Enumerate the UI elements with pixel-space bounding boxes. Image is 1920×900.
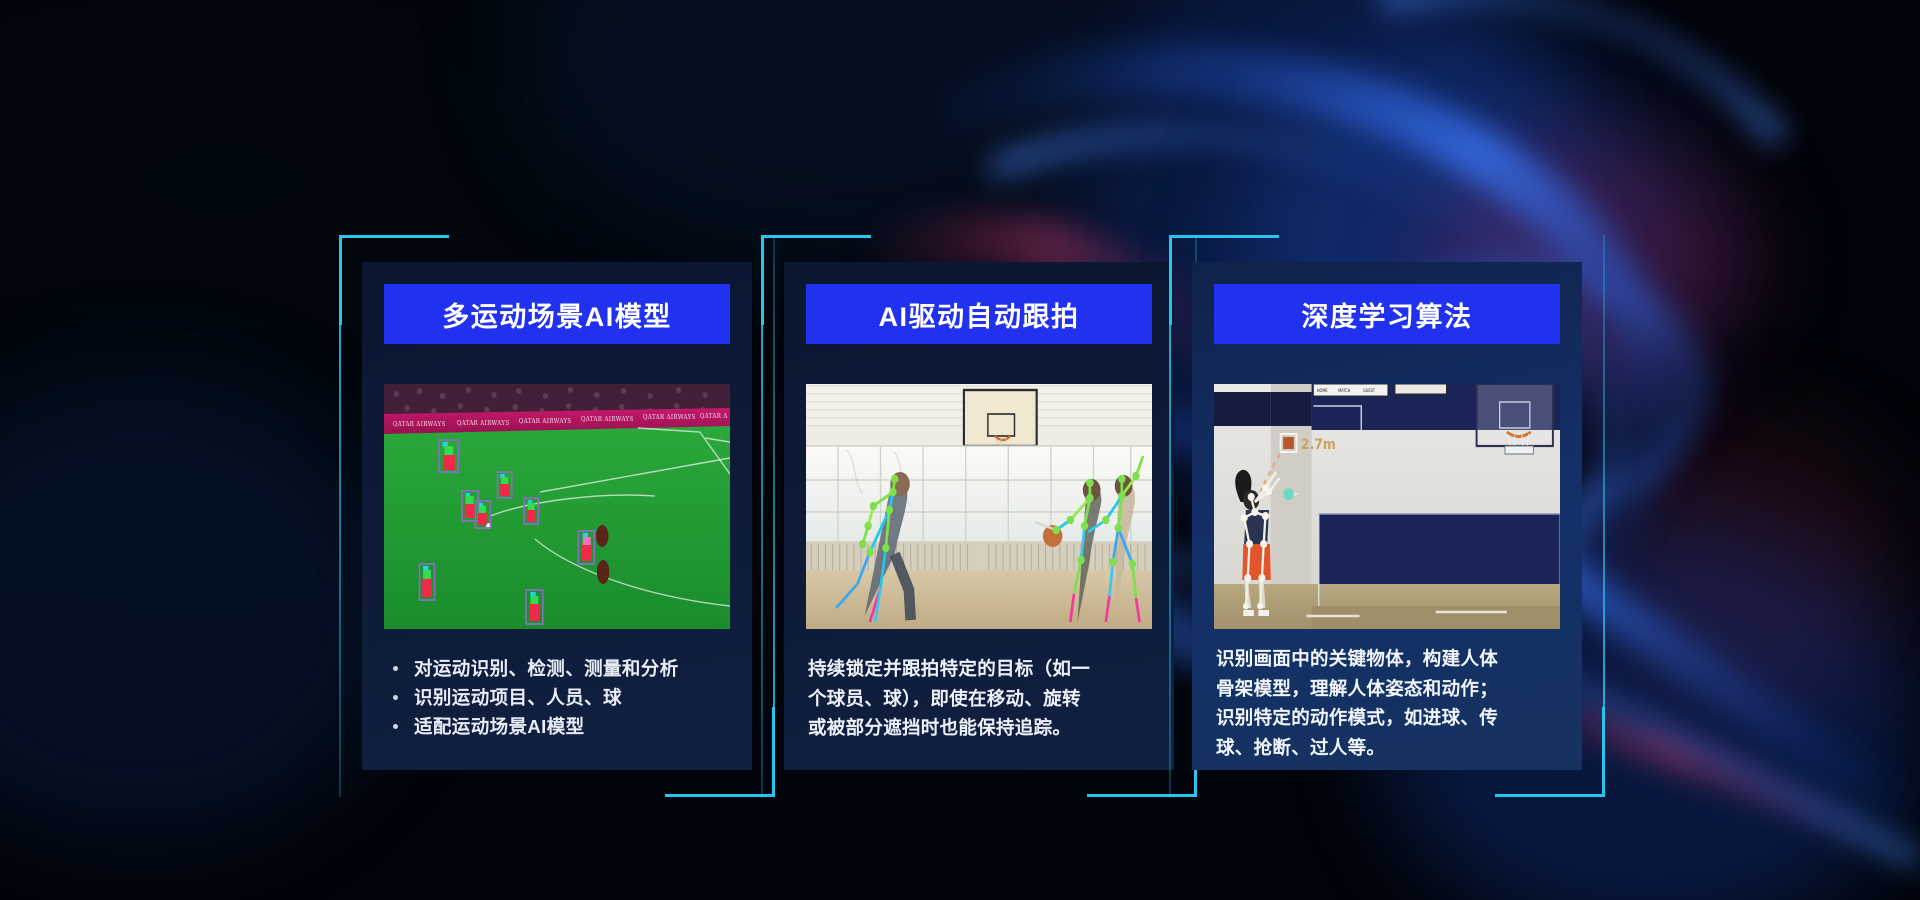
description-line: 持续锁定并跟拍特定的目标（如一 (808, 654, 1154, 684)
description-line: 识别特定的动作模式，如进球、传 (1216, 703, 1562, 733)
side-rail-left (1169, 235, 1171, 797)
description-line: 个球员、球），即使在移动、旋转 (808, 684, 1154, 714)
description-line: 或被部分遮挡时也能保持追踪。 (808, 713, 1154, 743)
list-item: 适配运动场景AI模型 (386, 712, 732, 741)
distance-annotation: 2.7m (1301, 437, 1336, 453)
card-header: 深度学习算法 (1214, 284, 1560, 344)
card-title: AI驱动自动跟拍 (879, 295, 1080, 334)
feature-cards-stage: 多运动场景AI模型 (0, 0, 1920, 900)
soccer-detection-thumbnail[interactable]: QATAR AIRWAYS QATAR AIRWAYS QATAR AIRWAY… (384, 384, 730, 629)
feature-description: 持续锁定并跟拍特定的目标（如一 个球员、球），即使在移动、旋转 或被部分遮挡时也… (808, 654, 1154, 743)
svg-text:QATAR A: QATAR A (700, 414, 728, 420)
ad-board-text: QATAR AIRWAYS (393, 422, 446, 428)
side-rail-left (339, 235, 341, 797)
svg-text:QATAR AIRWAYS: QATAR AIRWAYS (643, 415, 696, 421)
feature-description: 识别画面中的关键物体，构建人体 骨架模型，理解人体姿态和动作； 识别特定的动作模… (1216, 644, 1562, 762)
card-body: 多运动场景AI模型 (362, 262, 752, 770)
side-rail-right (773, 235, 775, 797)
svg-text:QATAR AIRWAYS: QATAR AIRWAYS (457, 421, 510, 427)
card-text: 持续锁定并跟拍特定的目标（如一 个球员、球），即使在移动、旋转 或被部分遮挡时也… (808, 654, 1154, 743)
card-body: AI驱动自动跟拍 (784, 262, 1174, 770)
basketball-pose-tracking-thumbnail[interactable] (806, 384, 1152, 629)
list-item: 识别运动项目、人员、球 (386, 683, 732, 712)
feature-bullet-list: 对运动识别、检测、测量和分析 识别运动项目、人员、球 适配运动场景AI模型 (386, 654, 732, 741)
card-header: 多运动场景AI模型 (384, 284, 730, 344)
card-header: AI驱动自动跟拍 (806, 284, 1152, 344)
description-line: 骨架模型，理解人体姿态和动作； (1216, 674, 1562, 704)
description-line: 识别画面中的关键物体，构建人体 (1216, 644, 1562, 674)
card-text: 对运动识别、检测、测量和分析 识别运动项目、人员、球 适配运动场景AI模型 (386, 654, 732, 741)
side-rail-left (761, 235, 763, 797)
description-line: 球、抢断、过人等。 (1216, 733, 1562, 763)
svg-text:QATAR AIRWAYS: QATAR AIRWAYS (581, 417, 634, 423)
list-item: 对运动识别、检测、测量和分析 (386, 654, 732, 683)
svg-text:GUEST: GUEST (1363, 388, 1376, 393)
card-text: 识别画面中的关键物体，构建人体 骨架模型，理解人体姿态和动作； 识别特定的动作模… (1216, 644, 1562, 762)
feature-card-ai-auto-tracking[interactable]: AI驱动自动跟拍 (784, 262, 1174, 770)
card-title: 深度学习算法 (1302, 295, 1473, 334)
svg-text:QATAR AIRWAYS: QATAR AIRWAYS (519, 419, 572, 425)
side-rail-right (1603, 235, 1605, 797)
card-title: 多运动场景AI模型 (442, 295, 672, 334)
svg-text:MATCH: MATCH (1338, 388, 1350, 393)
feature-card-multi-sport-ai-model[interactable]: 多运动场景AI模型 (362, 262, 752, 770)
feature-card-deep-learning-algorithm[interactable]: 深度学习算法 (1192, 262, 1582, 770)
svg-text:HOME: HOME (1317, 388, 1328, 393)
shot-analysis-thumbnail[interactable]: HOMEMATCHGUEST (1214, 384, 1560, 629)
card-body: 深度学习算法 (1192, 262, 1582, 770)
